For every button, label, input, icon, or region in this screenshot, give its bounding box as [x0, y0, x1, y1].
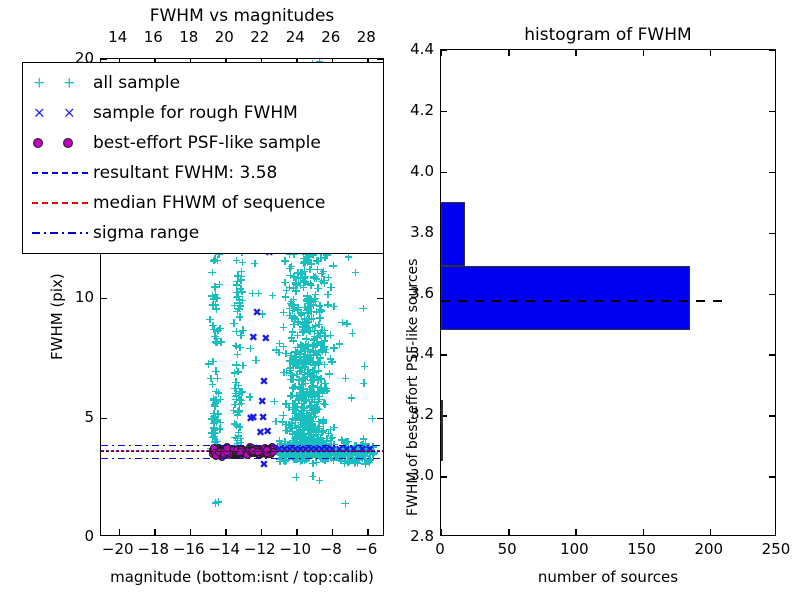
scatter-point-all-sample — [307, 359, 315, 367]
scatter-ytick — [101, 298, 107, 299]
scatter-point-all-sample — [309, 342, 317, 350]
histogram-axes[interactable] — [440, 49, 776, 536]
scatter-ytick — [101, 418, 107, 419]
scatter-point-all-sample — [291, 353, 299, 361]
scatter-point-all-sample — [280, 369, 288, 377]
scatter-point-all-sample — [327, 434, 335, 442]
scatter-point-all-sample — [294, 282, 302, 290]
histogram-ytick — [769, 415, 775, 416]
scatter-point-all-sample — [310, 301, 318, 309]
scatter-point-all-sample — [325, 370, 333, 378]
legend-entry-5[interactable]: sigma range — [29, 218, 375, 248]
scatter-point-all-sample — [237, 331, 245, 339]
scatter-point-all-sample — [298, 311, 306, 319]
histogram-bar[interactable] — [441, 266, 690, 330]
scatter-point-all-sample — [318, 428, 326, 436]
scatter-point-all-sample — [295, 411, 303, 419]
scatter-point-all-sample — [288, 334, 296, 342]
scatter-point-all-sample — [290, 313, 298, 321]
scatter-point-all-sample — [311, 332, 319, 340]
scatter-xtick — [190, 529, 191, 535]
scatter-point-all-sample — [312, 322, 320, 330]
scatter-point-all-sample — [272, 346, 280, 354]
scatter-point-all-sample — [212, 413, 220, 421]
scatter-point-all-sample — [276, 437, 284, 445]
scatter-point-all-sample — [295, 376, 303, 384]
scatter-point-all-sample — [343, 320, 351, 328]
scatter-point-all-sample — [230, 319, 238, 327]
scatter-point-all-sample — [235, 305, 243, 313]
scatter-point-all-sample — [309, 349, 317, 357]
scatter-point-all-sample — [327, 331, 335, 339]
histogram-bar[interactable] — [441, 400, 443, 461]
scatter-point-all-sample — [316, 434, 324, 442]
histogram-xtick — [643, 529, 644, 535]
scatter-point-all-sample — [301, 413, 309, 421]
scatter-point-all-sample — [300, 321, 308, 329]
scatter-point-all-sample — [318, 346, 326, 354]
scatter-point-all-sample — [207, 375, 215, 383]
scatter-point-all-sample — [330, 344, 338, 352]
scatter-point-all-sample — [313, 352, 321, 360]
scatter-point-all-sample — [306, 303, 314, 311]
scatter-point-all-sample — [276, 340, 284, 348]
scatter-point-rough-fwhm: ✖ — [259, 460, 268, 469]
scatter-point-all-sample — [233, 281, 241, 289]
scatter-point-all-sample — [310, 274, 318, 282]
scatter-point-all-sample — [285, 421, 293, 429]
scatter-point-all-sample — [344, 458, 352, 466]
scatter-point-all-sample — [302, 390, 310, 398]
scatter-point-all-sample — [297, 430, 305, 438]
scatter-point-all-sample — [234, 408, 242, 416]
scatter-point-psf-like — [218, 453, 226, 461]
scatter-point-all-sample — [300, 430, 308, 438]
scatter-point-all-sample — [301, 396, 309, 404]
scatter-point-all-sample — [298, 274, 306, 282]
scatter-point-all-sample — [216, 396, 224, 404]
scatter-point-all-sample — [300, 414, 308, 422]
scatter-point-all-sample — [299, 319, 307, 327]
scatter-point-all-sample — [314, 435, 322, 443]
scatter-point-all-sample — [214, 416, 222, 424]
scatter-point-all-sample — [286, 366, 294, 374]
scatter-point-all-sample — [308, 435, 316, 443]
scatter-point-all-sample — [368, 415, 376, 423]
blue-dashed-line-icon — [32, 172, 88, 174]
scatter-ytick — [101, 59, 107, 60]
scatter-point-all-sample — [293, 403, 301, 411]
legend-entry-4[interactable]: median FHWM of sequence — [29, 188, 375, 218]
scatter-point-all-sample — [288, 263, 296, 271]
scatter-point-all-sample — [312, 298, 320, 306]
scatter-point-all-sample — [299, 343, 307, 351]
resultant-fwhm-line — [101, 451, 384, 452]
scatter-xtick — [367, 529, 368, 535]
scatter-point-all-sample — [297, 413, 305, 421]
scatter-point-all-sample — [304, 258, 312, 266]
histogram-ytick — [441, 172, 447, 173]
histogram-ylabel: FWHM of best-effort PSF-like sources — [405, 259, 421, 516]
scatter-point-all-sample — [287, 352, 295, 360]
scatter-point-all-sample — [305, 326, 313, 334]
scatter-point-all-sample — [311, 391, 319, 399]
scatter-point-all-sample — [297, 356, 305, 364]
scatter-point-all-sample — [319, 416, 327, 424]
scatter-point-all-sample — [213, 418, 221, 426]
scatter-point-all-sample — [305, 436, 313, 444]
scatter-point-all-sample — [310, 437, 318, 445]
scatter-point-all-sample — [305, 253, 313, 261]
scatter-point-all-sample — [296, 365, 304, 373]
scatter-point-all-sample — [300, 404, 308, 412]
scatter-point-all-sample — [365, 459, 373, 467]
scatter-point-all-sample — [304, 393, 312, 401]
scatter-point-all-sample — [311, 396, 319, 404]
scatter-bottom-ticklabel: −10 — [276, 540, 314, 558]
scatter-point-all-sample — [301, 421, 309, 429]
scatter-point-all-sample — [336, 340, 344, 348]
scatter-point-all-sample — [297, 425, 305, 433]
scatter-point-all-sample — [287, 363, 295, 371]
scatter-point-all-sample — [290, 296, 298, 304]
scatter-point-all-sample — [210, 433, 218, 441]
scatter-point-all-sample — [298, 269, 306, 277]
scatter-point-all-sample — [297, 419, 305, 427]
scatter-point-all-sample — [235, 392, 243, 400]
scatter-point-all-sample — [314, 431, 322, 439]
scatter-point-all-sample — [299, 416, 307, 424]
scatter-point-all-sample — [210, 424, 218, 432]
blue-dashdot-line-icon — [32, 232, 88, 234]
histogram-ytick — [769, 172, 775, 173]
scatter-point-all-sample — [312, 291, 320, 299]
scatter-point-all-sample — [236, 388, 244, 396]
plot-legend[interactable]: ++all sample××sample for rough FWHMbest-… — [22, 62, 384, 254]
scatter-point-all-sample — [341, 500, 349, 508]
scatter-point-all-sample — [311, 295, 319, 303]
scatter-point-all-sample — [317, 384, 325, 392]
scatter-point-all-sample — [304, 295, 312, 303]
scatter-point-all-sample — [317, 355, 325, 363]
histogram-ytick — [441, 111, 447, 112]
scatter-point-all-sample — [303, 352, 311, 360]
scatter-point-all-sample — [208, 415, 216, 423]
scatter-point-all-sample — [321, 327, 329, 335]
scatter-point-all-sample — [319, 427, 327, 435]
scatter-point-all-sample — [214, 374, 222, 382]
scatter-point-all-sample — [288, 301, 296, 309]
scatter-point-all-sample — [239, 326, 247, 334]
scatter-point-all-sample — [213, 295, 221, 303]
red-dashed-line-icon — [32, 202, 88, 204]
scatter-point-all-sample — [298, 270, 306, 278]
scatter-point-all-sample — [293, 393, 301, 401]
scatter-point-all-sample — [301, 358, 309, 366]
scatter-point-all-sample — [312, 373, 320, 381]
legend-entry-2[interactable]: best-effort PSF-like sample — [29, 128, 375, 158]
scatter-point-all-sample — [296, 353, 304, 361]
scatter-point-all-sample — [301, 273, 309, 281]
histogram-ytick — [769, 50, 775, 51]
scatter-point-all-sample — [308, 407, 316, 415]
circle-marker-icon — [33, 138, 43, 148]
scatter-point-all-sample — [233, 277, 241, 285]
scatter-point-all-sample — [293, 430, 301, 438]
scatter-point-all-sample — [312, 412, 320, 420]
scatter-point-all-sample — [296, 428, 304, 436]
scatter-point-all-sample — [304, 388, 312, 396]
scatter-point-all-sample — [300, 254, 308, 262]
scatter-point-all-sample — [234, 272, 242, 280]
scatter-point-all-sample — [302, 380, 310, 388]
scatter-point-all-sample — [314, 367, 322, 375]
scatter-point-all-sample — [291, 435, 299, 443]
scatter-point-all-sample — [213, 397, 221, 405]
scatter-point-all-sample — [216, 425, 224, 433]
scatter-point-all-sample — [311, 361, 319, 369]
scatter-point-all-sample — [211, 255, 219, 263]
scatter-point-all-sample — [310, 369, 318, 377]
scatter-point-all-sample — [237, 276, 245, 284]
scatter-point-all-sample — [311, 362, 319, 370]
scatter-bottom-ticklabel: −18 — [134, 540, 172, 558]
scatter-point-all-sample — [206, 316, 214, 324]
scatter-point-all-sample — [289, 400, 297, 408]
scatter-point-all-sample — [309, 324, 317, 332]
scatter-point-all-sample — [210, 397, 218, 405]
histogram-xtick-label: 200 — [689, 540, 729, 558]
legend-key-red-dashed-line — [29, 193, 93, 213]
scatter-xtick — [119, 529, 120, 535]
scatter-point-all-sample — [282, 426, 290, 434]
scatter-point-all-sample — [286, 264, 294, 272]
scatter-point-all-sample — [306, 402, 314, 410]
scatter-point-all-sample — [236, 286, 244, 294]
scatter-point-all-sample — [320, 268, 328, 276]
scatter-point-all-sample — [301, 371, 309, 379]
scatter-point-all-sample — [303, 307, 311, 315]
scatter-point-all-sample — [291, 315, 299, 323]
scatter-point-all-sample — [290, 304, 298, 312]
scatter-point-all-sample — [296, 350, 304, 358]
figure-canvas: FWHM vs magnitudes 1416182022242628 −20−… — [0, 0, 800, 600]
scatter-point-all-sample — [299, 323, 307, 331]
scatter-point-all-sample — [290, 284, 298, 292]
scatter-point-all-sample — [316, 332, 324, 340]
scatter-point-all-sample — [216, 419, 224, 427]
scatter-point-all-sample — [296, 423, 304, 431]
scatter-point-all-sample — [306, 424, 314, 432]
histogram-bar[interactable] — [441, 202, 465, 266]
scatter-point-all-sample — [296, 363, 304, 371]
scatter-point-all-sample — [293, 371, 301, 379]
scatter-bottom-ticklabel: −16 — [170, 540, 208, 558]
scatter-point-all-sample — [307, 403, 315, 411]
scatter-point-all-sample — [293, 434, 301, 442]
scatter-point-all-sample — [270, 398, 278, 406]
scatter-point-all-sample — [322, 401, 330, 409]
scatter-point-all-sample — [302, 335, 310, 343]
scatter-point-all-sample — [330, 303, 338, 311]
scatter-top-ticklabel: 22 — [246, 28, 274, 46]
scatter-point-all-sample — [301, 437, 309, 445]
scatter-point-all-sample — [354, 459, 362, 467]
scatter-point-all-sample — [310, 314, 318, 322]
scatter-point-all-sample — [322, 384, 330, 392]
scatter-point-all-sample — [311, 347, 319, 355]
scatter-point-all-sample — [322, 349, 330, 357]
scatter-point-all-sample — [309, 376, 317, 384]
scatter-point-all-sample — [297, 366, 305, 374]
legend-label: sample for rough FWHM — [93, 103, 298, 123]
scatter-point-all-sample — [307, 421, 315, 429]
scatter-point-all-sample — [314, 360, 322, 368]
scatter-point-all-sample — [314, 418, 322, 426]
legend-entry-1[interactable]: ××sample for rough FWHM — [29, 98, 375, 128]
legend-entry-3[interactable]: resultant FWHM: 3.58 — [29, 158, 375, 188]
scatter-point-all-sample — [308, 395, 316, 403]
scatter-point-all-sample — [324, 291, 332, 299]
scatter-point-all-sample — [313, 434, 321, 442]
scatter-point-all-sample — [233, 343, 241, 351]
scatter-point-all-sample — [281, 257, 289, 265]
scatter-point-all-sample — [306, 423, 314, 431]
scatter-point-all-sample — [236, 296, 244, 304]
scatter-point-all-sample — [304, 309, 312, 317]
scatter-point-all-sample — [290, 301, 298, 309]
scatter-point-all-sample — [294, 269, 302, 277]
scatter-point-all-sample — [329, 434, 337, 442]
scatter-point-all-sample — [292, 410, 300, 418]
scatter-point-all-sample — [293, 343, 301, 351]
histogram-ytick-label: 2.8 — [396, 527, 434, 545]
scatter-point-all-sample — [328, 435, 336, 443]
scatter-point-all-sample — [210, 395, 218, 403]
scatter-point-all-sample — [316, 305, 324, 313]
scatter-point-rough-fwhm: ✖ — [256, 428, 265, 437]
scatter-top-ticklabel: 20 — [210, 28, 238, 46]
scatter-point-all-sample — [232, 342, 240, 350]
scatter-point-all-sample — [316, 341, 324, 349]
scatter-point-all-sample — [348, 394, 356, 402]
histogram-ytick — [769, 294, 775, 295]
scatter-point-all-sample — [292, 362, 300, 370]
scatter-point-all-sample — [297, 415, 305, 423]
scatter-point-all-sample — [213, 339, 221, 347]
scatter-point-all-sample — [234, 437, 242, 445]
scatter-point-all-sample — [308, 260, 316, 268]
scatter-point-all-sample — [307, 402, 315, 410]
scatter-point-all-sample — [211, 426, 219, 434]
scatter-point-all-sample — [212, 388, 220, 396]
scatter-point-all-sample — [286, 305, 294, 313]
scatter-top-ticklabel: 16 — [139, 28, 167, 46]
scatter-point-all-sample — [307, 377, 315, 385]
scatter-point-all-sample — [316, 314, 324, 322]
scatter-point-all-sample — [231, 420, 239, 428]
scatter-point-all-sample — [299, 374, 307, 382]
scatter-point-all-sample — [283, 427, 291, 435]
scatter-point-all-sample — [291, 358, 299, 366]
scatter-point-all-sample — [301, 279, 309, 287]
scatter-point-all-sample — [307, 355, 315, 363]
scatter-point-all-sample — [286, 271, 294, 279]
scatter-point-all-sample — [298, 421, 306, 429]
scatter-point-all-sample — [297, 269, 305, 277]
scatter-point-all-sample — [295, 367, 303, 375]
scatter-point-all-sample — [232, 389, 240, 397]
scatter-point-all-sample — [233, 308, 241, 316]
scatter-point-all-sample — [300, 284, 308, 292]
scatter-point-all-sample — [288, 424, 296, 432]
scatter-point-all-sample — [301, 267, 309, 275]
scatter-point-all-sample — [305, 426, 313, 434]
scatter-point-all-sample — [286, 312, 294, 320]
scatter-point-all-sample — [315, 257, 323, 265]
scatter-point-all-sample — [216, 281, 224, 289]
scatter-point-all-sample — [307, 431, 315, 439]
scatter-point-all-sample — [350, 459, 358, 467]
scatter-point-all-sample — [327, 355, 335, 363]
scatter-point-all-sample — [211, 283, 219, 291]
scatter-point-all-sample — [326, 426, 334, 434]
scatter-point-all-sample — [233, 257, 241, 265]
scatter-point-all-sample — [315, 396, 323, 404]
scatter-point-all-sample — [298, 404, 306, 412]
scatter-point-all-sample — [212, 367, 220, 375]
scatter-point-all-sample — [231, 302, 239, 310]
scatter-point-all-sample — [306, 299, 314, 307]
scatter-point-rough-fwhm: ✖ — [249, 413, 258, 422]
scatter-point-all-sample — [213, 335, 221, 343]
scatter-point-all-sample — [308, 383, 316, 391]
scatter-point-all-sample — [216, 325, 224, 333]
scatter-point-rough-fwhm: ✖ — [246, 414, 255, 423]
scatter-ytick — [377, 298, 383, 299]
scatter-point-all-sample — [314, 333, 322, 341]
scatter-point-all-sample — [237, 435, 245, 443]
scatter-point-all-sample — [308, 430, 316, 438]
scatter-point-all-sample — [324, 274, 332, 282]
legend-entry-0[interactable]: ++all sample — [29, 68, 375, 98]
scatter-point-all-sample — [210, 410, 218, 418]
scatter-point-all-sample — [323, 435, 331, 443]
histogram-xtick — [575, 529, 576, 535]
histogram-ytick-label: 4.0 — [396, 162, 434, 180]
scatter-point-all-sample — [297, 347, 305, 355]
sigma-range-upper — [101, 445, 384, 447]
scatter-point-all-sample — [312, 404, 320, 412]
scatter-point-all-sample — [302, 324, 310, 332]
scatter-point-all-sample — [303, 371, 311, 379]
scatter-point-all-sample — [295, 319, 303, 327]
scatter-point-all-sample — [311, 423, 319, 431]
scatter-point-all-sample — [306, 402, 314, 410]
scatter-point-all-sample — [320, 279, 328, 287]
scatter-point-all-sample — [292, 356, 300, 364]
scatter-point-all-sample — [302, 434, 310, 442]
scatter-point-all-sample — [269, 292, 277, 300]
histogram-xtick-label: 100 — [554, 540, 594, 558]
histogram-ytick — [769, 111, 775, 112]
scatter-point-all-sample — [299, 385, 307, 393]
scatter-point-all-sample — [323, 387, 331, 395]
scatter-point-all-sample — [310, 433, 318, 441]
scatter-point-all-sample — [297, 385, 305, 393]
histogram-ytick — [769, 233, 775, 234]
scatter-point-all-sample — [354, 459, 362, 467]
